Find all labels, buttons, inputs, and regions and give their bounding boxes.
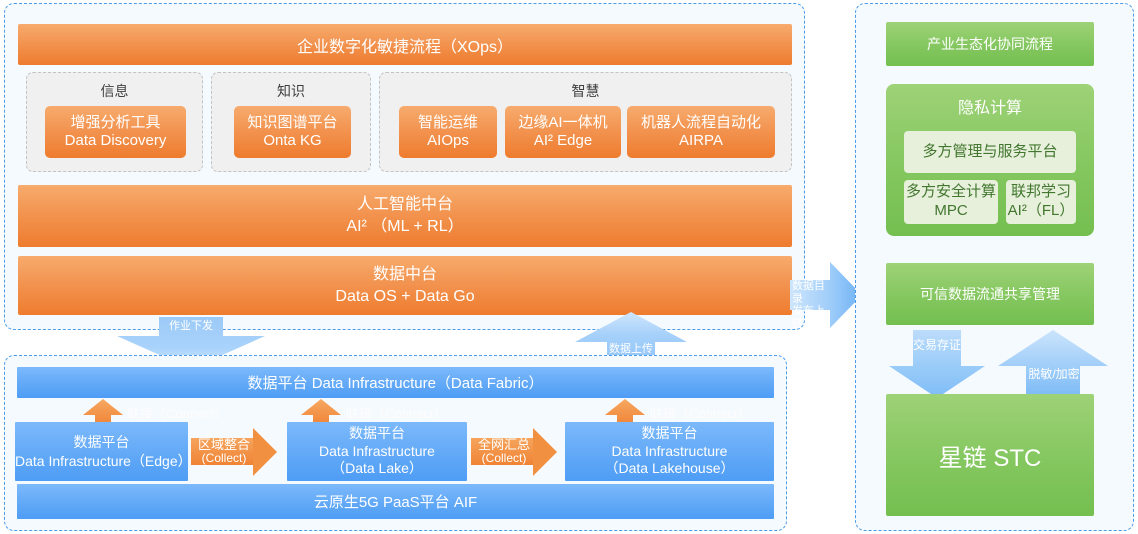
group-information-title: 信息: [27, 81, 202, 101]
arrow-desensitize-encrypt-shape: [998, 330, 1108, 398]
privacy-computing-group: 隐私计算 多方管理与服务平台 多方安全计算 MPC 联邦学习 AI²（FL）: [886, 84, 1094, 236]
panel-data-platform: 数据平台 Data Infrastructure（Data Fabric） 联接…: [4, 355, 787, 531]
tier-data-lake-line1: 数据平台: [349, 425, 405, 443]
group-knowledge: 知识 知识图谱平台 Onta KG: [211, 72, 371, 172]
connect-label-edge: 联接（Connect）: [127, 403, 227, 422]
xops-bar-label: 企业数字化敏捷流程（XOps）: [297, 33, 513, 57]
chip-ai2-edge-line1: 边缘AI一体机: [518, 114, 607, 132]
data-midplatform-line1: 数据中台: [373, 264, 437, 286]
panel-industry-ecosystem: 产业生态化协同流程 隐私计算 多方管理与服务平台 多方安全计算 MPC 联邦学习…: [855, 3, 1134, 531]
chip-data-discovery-line1: 增强分析工具: [70, 114, 160, 132]
privacy-federated-learning-line1: 联邦学习: [1011, 183, 1071, 202]
privacy-federated-learning[interactable]: 联邦学习 AI²（FL）: [1006, 180, 1076, 224]
ai-midplatform-line2: AI² （ML + RL）: [346, 216, 463, 238]
privacy-mpc-line1: 多方安全计算: [906, 183, 996, 202]
tier-edge-line2: Data Infrastructure（Edge）: [15, 452, 188, 470]
chip-data-discovery-line2: Data Discovery: [65, 132, 167, 150]
tier-edge[interactable]: 数据平台 Data Infrastructure（Edge）: [15, 422, 188, 481]
chip-airpa-line1: 机器人流程自动化: [641, 114, 761, 132]
arrow-collect-region: 区域整合 (Collect): [191, 428, 286, 475]
arrow-collect-region-body: 区域整合 (Collect): [191, 438, 257, 465]
arrow-catalog-publish: 数据目录 发布上链: [790, 262, 862, 328]
arrow-collect-global-line2: (Collect): [482, 452, 527, 465]
privacy-mpc[interactable]: 多方安全计算 MPC: [904, 180, 998, 224]
chip-airpa-line2: AIRPA: [679, 132, 723, 150]
chip-aiops-line2: AIOps: [427, 132, 469, 150]
arrow-collect-global-body: 全网汇总 (Collect): [471, 438, 537, 465]
chip-aiops-line1: 智能运维: [418, 114, 478, 132]
ai-midplatform-line1: 人工智能中台: [357, 194, 453, 216]
eco-process-bar-label: 产业生态化协同流程: [927, 34, 1053, 54]
arrow-transaction-record-shape: [889, 330, 985, 398]
arrow-collect-region-head: [253, 428, 277, 476]
tier-data-lake[interactable]: 数据平台 Data Infrastructure （Data Lake）: [287, 422, 467, 481]
arrow-collect-region-line1: 区域整合: [198, 438, 250, 452]
arrow-collect-region-line2: (Collect): [202, 452, 247, 465]
diagram-canvas: 企业数字化敏捷流程（XOps） 信息 增强分析工具 Data Discovery…: [0, 0, 1138, 534]
privacy-federated-learning-line2: AI²（FL）: [1008, 202, 1075, 221]
privacy-computing-title: 隐私计算: [958, 94, 1022, 118]
tier-data-lake-line3: （Data Lake）: [331, 460, 423, 478]
data-midplatform-line2: Data OS + Data Go: [335, 286, 474, 308]
tier-edge-line1: 数据平台: [74, 433, 130, 451]
privacy-multiparty-platform-label: 多方管理与服务平台: [922, 143, 1057, 162]
paas-bar[interactable]: 云原生5G PaaS平台 AIF: [17, 484, 774, 519]
eco-process-bar[interactable]: 产业生态化协同流程: [886, 22, 1094, 66]
arrow-collect-global-line1: 全网汇总: [478, 438, 530, 452]
connect-label-lake: 联接（Connect）: [346, 403, 446, 422]
data-fabric-bar-label: 数据平台 Data Infrastructure（Data Fabric）: [248, 372, 544, 393]
chip-onta-kg-line2: Onta KG: [263, 132, 321, 150]
tier-data-lakehouse-line1: 数据平台: [642, 425, 698, 443]
arrow-transaction-record: 交易存证: [889, 330, 985, 398]
paas-bar-label: 云原生5G PaaS平台 AIF: [314, 491, 477, 512]
chip-ai2-edge[interactable]: 边缘AI一体机 AI² Edge: [505, 106, 621, 158]
privacy-multiparty-platform[interactable]: 多方管理与服务平台: [904, 131, 1076, 173]
tier-data-lake-line2: Data Infrastructure: [319, 443, 435, 461]
group-knowledge-title: 知识: [212, 81, 370, 101]
ai-midplatform-bar[interactable]: 人工智能中台 AI² （ML + RL）: [18, 185, 792, 247]
stc-bar[interactable]: 星链 STC: [886, 394, 1094, 516]
data-fabric-bar[interactable]: 数据平台 Data Infrastructure（Data Fabric）: [17, 367, 774, 398]
tier-data-lakehouse-line2: Data Infrastructure: [612, 443, 728, 461]
arrow-desensitize-encrypt: 脱敏/加密: [998, 330, 1108, 398]
arrow-collect-global: 全网汇总 (Collect): [471, 428, 566, 475]
privacy-mpc-line2: MPC: [934, 202, 967, 221]
chip-onta-kg[interactable]: 知识图谱平台 Onta KG: [234, 106, 351, 158]
arrow-catalog-publish-shape: [790, 262, 862, 328]
arrow-collect-global-head: [533, 428, 557, 476]
data-midplatform-bar[interactable]: 数据中台 Data OS + Data Go: [18, 256, 792, 315]
stc-bar-label: 星链 STC: [939, 438, 1042, 473]
tier-data-lakehouse[interactable]: 数据平台 Data Infrastructure （Data Lakehouse…: [565, 422, 774, 481]
chip-airpa[interactable]: 机器人流程自动化 AIRPA: [627, 106, 775, 158]
tier-data-lakehouse-line3: （Data Lakehouse）: [605, 460, 735, 478]
group-intelligence: 智慧 智能运维 AIOps 边缘AI一体机 AI² Edge 机器人流程自动化 …: [379, 72, 792, 172]
chip-onta-kg-line1: 知识图谱平台: [247, 114, 337, 132]
chip-aiops[interactable]: 智能运维 AIOps: [399, 106, 497, 158]
trusted-data-sharing-label: 可信数据流通共享管理: [920, 284, 1060, 304]
chip-ai2-edge-line2: AI² Edge: [534, 132, 592, 150]
xops-bar[interactable]: 企业数字化敏捷流程（XOps）: [18, 24, 792, 65]
panel-enterprise-digital: 企业数字化敏捷流程（XOps） 信息 增强分析工具 Data Discovery…: [4, 3, 805, 330]
group-intelligence-title: 智慧: [380, 81, 791, 101]
trusted-data-sharing-bar[interactable]: 可信数据流通共享管理: [886, 263, 1094, 325]
group-information: 信息 增强分析工具 Data Discovery: [26, 72, 203, 172]
chip-data-discovery[interactable]: 增强分析工具 Data Discovery: [45, 106, 186, 158]
connect-label-lakehouse: 联接（Connect）: [650, 403, 750, 422]
